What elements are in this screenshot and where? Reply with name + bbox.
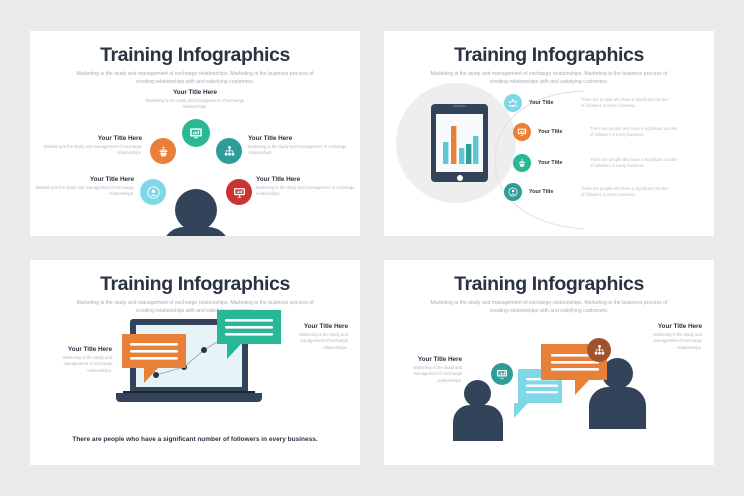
row-title: Your Title	[529, 100, 575, 106]
item-desc: Marketing is the study and management of…	[34, 185, 134, 198]
panel3-caption: There are people who have a significant …	[30, 436, 360, 443]
monitor-chart-icon[interactable]	[182, 119, 210, 147]
item-title: Your Title Here	[278, 323, 348, 330]
presentation-icon[interactable]	[226, 179, 252, 205]
row-desc: There are people who have a significant …	[581, 186, 669, 198]
panel2-header: Training Infographics Marketing is the s…	[384, 31, 714, 87]
panel3-item-right: Your Title Here Marketing is the study a…	[278, 323, 348, 351]
panel3-item-left: Your Title Here Marketing is the study a…	[44, 346, 112, 374]
person-body-silhouette	[162, 227, 230, 236]
org-chart-icon[interactable]	[587, 338, 611, 362]
tablet-screen	[436, 114, 483, 172]
row-desc: There are people who have a significant …	[590, 126, 678, 138]
panel1-item-left-top: Your Title Here Marketing is the study a…	[42, 135, 142, 157]
panel1-item-right-bottom: Your Title Here Marketing is the study a…	[256, 176, 360, 198]
monitor-chart-icon[interactable]	[491, 363, 513, 385]
people-group-icon[interactable]	[504, 94, 522, 112]
panel3-header: Training Infographics Marketing is the s…	[30, 260, 360, 316]
chat-bubble-orange	[120, 332, 188, 385]
page-title: Training Infographics	[30, 274, 360, 294]
panel2-row[interactable]: Your Title There are people who have a s…	[504, 94, 669, 112]
tablet-speaker	[453, 105, 466, 107]
panel4-header: Training Infographics Marketing is the s…	[384, 260, 714, 316]
user-badge-icon[interactable]	[140, 179, 166, 205]
cupcake-icon[interactable]	[513, 154, 531, 172]
panel4-item-right: Your Title Here Marketing is the study a…	[632, 323, 702, 351]
bar-chart	[436, 114, 483, 172]
laptop-base	[116, 393, 262, 402]
row-desc: There are people who have a significant …	[581, 97, 669, 109]
item-desc: Marketing is the study and management of…	[278, 332, 348, 351]
page-title: Training Infographics	[30, 45, 360, 65]
row-title: Your Title	[538, 129, 584, 135]
panel-radial-team: Training Infographics Marketing is the s…	[30, 31, 360, 236]
item-title: Your Title Here	[44, 346, 112, 353]
row-title: Your Title	[529, 189, 575, 195]
person-head-silhouette	[175, 189, 217, 231]
panel2-row[interactable]: Your Title There are people who have a s…	[513, 154, 678, 172]
item-desc: Marketing is the study and management of…	[394, 365, 462, 384]
item-title: Your Title Here	[248, 135, 352, 142]
person-head-silhouette-left	[464, 380, 491, 407]
item-title: Your Title Here	[632, 323, 702, 330]
page-title: Training Infographics	[384, 274, 714, 294]
item-desc: Marketing is the study and management of…	[140, 98, 250, 111]
item-desc: Marketing is the study and management of…	[632, 332, 702, 351]
panel4-item-left: Your Title Here Marketing is the study a…	[394, 356, 462, 384]
person-body-silhouette-left	[453, 405, 503, 441]
panel1-item-right-top: Your Title Here Marketing is the study a…	[248, 135, 352, 157]
item-desc: Marketing is the study and management of…	[256, 185, 360, 198]
item-desc: Marketing is the study and management of…	[44, 355, 112, 374]
cupcake-icon[interactable]	[150, 138, 176, 164]
item-title: Your Title Here	[256, 176, 360, 183]
item-title: Your Title Here	[394, 356, 462, 363]
panel2-row[interactable]: Your Title There are people who have a s…	[504, 183, 669, 201]
item-title: Your Title Here	[34, 176, 134, 183]
panel2-row[interactable]: Your Title There are people who have a s…	[513, 123, 678, 141]
row-title: Your Title	[538, 160, 584, 166]
panel-tablet-list: Training Infographics Marketing is the s…	[384, 31, 714, 236]
user-badge-icon[interactable]	[504, 183, 522, 201]
panel1-header: Training Infographics Marketing is the s…	[30, 31, 360, 87]
panel1-item-left-bottom: Your Title Here Marketing is the study a…	[34, 176, 134, 198]
tablet-home-button	[457, 175, 463, 181]
item-title: Your Title Here	[125, 89, 265, 96]
item-desc: Marketing is the study and management of…	[42, 144, 142, 157]
chat-bubble-green	[215, 308, 283, 361]
item-desc: Marketing is the study and management of…	[248, 144, 352, 157]
tablet-device	[431, 104, 488, 182]
item-title: Your Title Here	[42, 135, 142, 142]
infographic-board: Training Infographics Marketing is the s…	[0, 0, 744, 496]
panel1-center-item: Your Title Here Marketing is the study a…	[125, 89, 265, 111]
row-desc: There are people who have a significant …	[590, 157, 678, 169]
panel-two-people-chat: Training Infographics Marketing is the s…	[384, 260, 714, 465]
presentation-icon[interactable]	[513, 123, 531, 141]
page-title: Training Infographics	[384, 45, 714, 65]
panel-laptop-chat: Training Infographics Marketing is the s…	[30, 260, 360, 465]
page-subtitle: Marketing is the study and management of…	[424, 300, 674, 316]
page-subtitle: Marketing is the study and management of…	[70, 71, 320, 87]
org-chart-icon[interactable]	[216, 138, 242, 164]
